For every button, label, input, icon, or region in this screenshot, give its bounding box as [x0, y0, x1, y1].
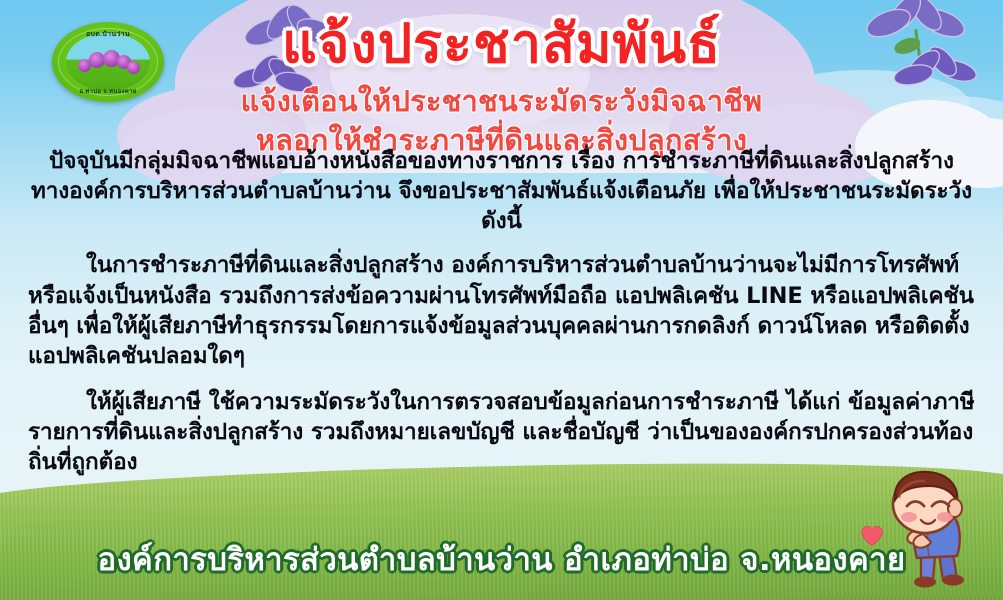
body-content: ปัจจุบันมีกลุ่มมิจฉาชีพแอบอ้างหนังสือของ…	[28, 146, 975, 477]
footer-organization-name: องค์การบริหารส่วนตำบลบ้านว่าน อำเภอท่าบ่…	[0, 534, 1003, 584]
subtitle-line-1: แจ้งเตือนให้ประชาชนระมัดระวังมิจฉาชีพ	[0, 82, 1003, 120]
paragraph-2: ในการชำระภาษีที่ดินและสิ่งปลูกสร้าง องค์…	[28, 250, 975, 371]
page-title: แจ้งประชาสัมพันธ์	[0, 16, 1003, 73]
announcement-poster: อบต.บ้านว่าน อ.ท่าบ่อ จ.หนองคาย	[0, 0, 1003, 600]
paragraph-1: ปัจจุบันมีกลุ่มมิจฉาชีพแอบอ้างหนังสือของ…	[28, 146, 975, 236]
